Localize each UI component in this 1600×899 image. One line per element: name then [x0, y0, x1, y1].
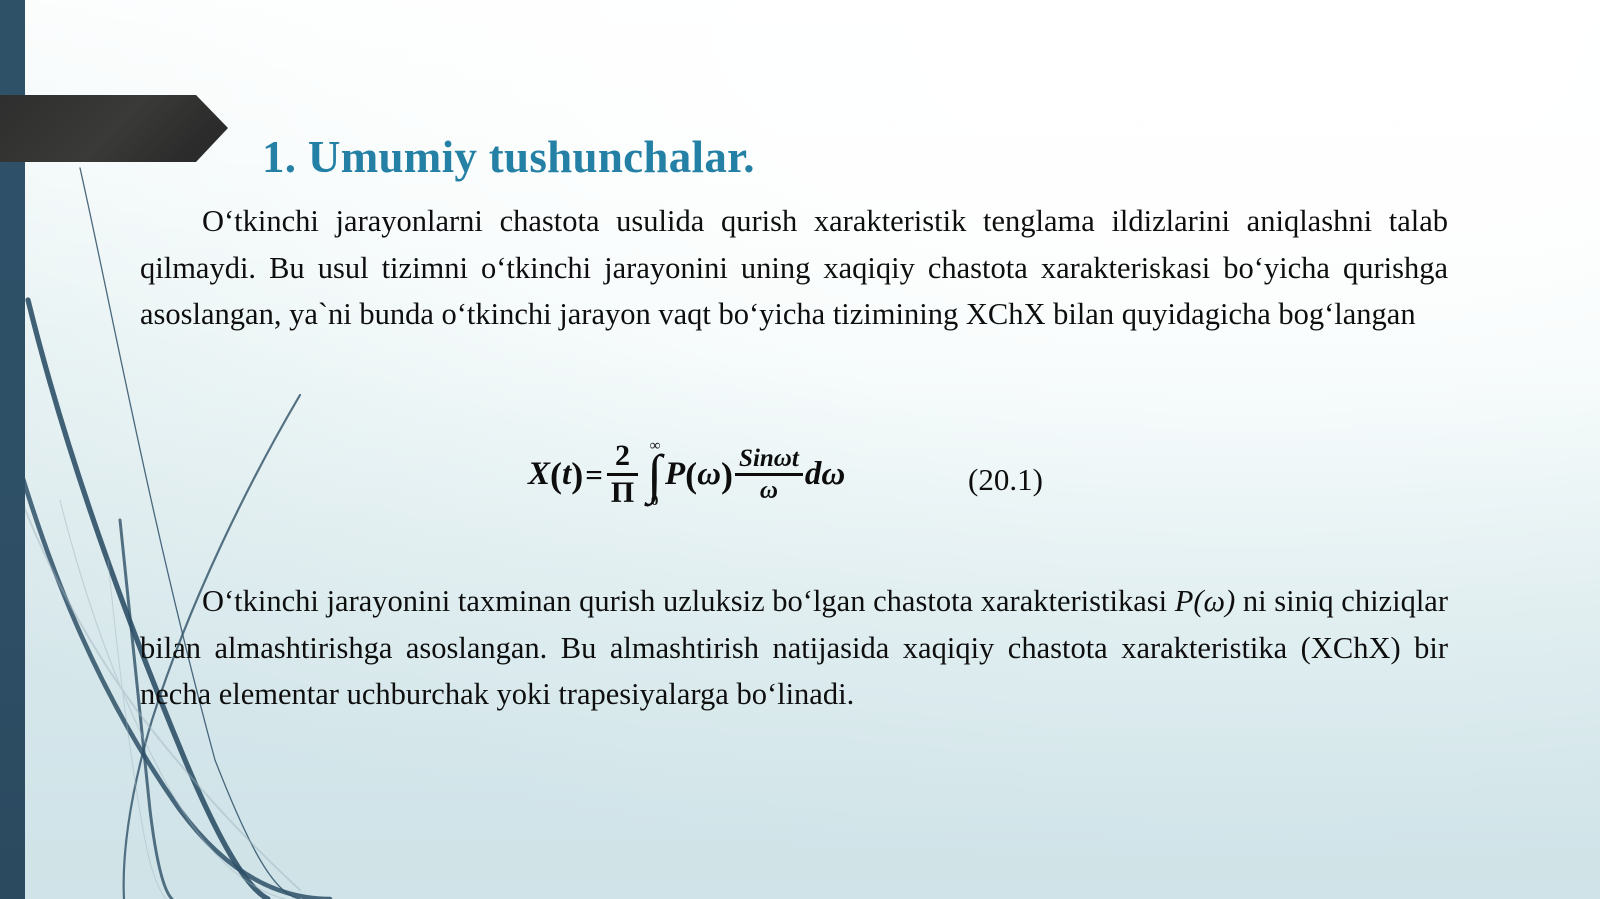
- formula-fraction-numerator: 2: [611, 440, 634, 472]
- formula-two-over-pi: 2 Π: [607, 440, 638, 509]
- integral-lower-limit: 0: [651, 496, 659, 506]
- formula-sin-numerator: Sinωt: [735, 445, 803, 472]
- paragraph-2-part-1: O‘tkinchi jarayonini taxminan qurish uzl…: [202, 584, 1175, 618]
- formula-p-function: P: [665, 456, 685, 493]
- formula-20-1: X(t) = 2 Π ∞ ∫ 0 P(ω) Sinωt ω dω: [528, 440, 845, 509]
- formula-equals-sign: =: [585, 457, 603, 493]
- presentation-slide: 1. Umumiy tushunchalar. O‘tkinchi jarayo…: [0, 0, 1600, 899]
- paragraph-block-1: O‘tkinchi jarayonlarni chastota usulida …: [140, 198, 1448, 338]
- formula-p-open-paren: (: [685, 454, 697, 496]
- formula-sin-denominator: ω: [756, 477, 782, 504]
- formula-integral: ∞ ∫ 0: [647, 443, 662, 506]
- title-arrow-banner: [0, 95, 228, 162]
- formula-lhs-close-paren: ): [571, 454, 583, 496]
- equation-row: X(t) = 2 Π ∞ ∫ 0 P(ω) Sinωt ω dω (20.1): [140, 440, 1448, 535]
- paragraph-2-italic-term: P(ω): [1175, 584, 1235, 618]
- formula-sin-fraction-bar: [735, 473, 803, 475]
- formula-lhs-open-paren: (: [550, 454, 562, 496]
- formula-fraction-denominator: Π: [607, 477, 638, 509]
- formula-lhs-argument: t: [562, 456, 571, 493]
- formula-sin-fraction: Sinωt ω: [735, 445, 803, 503]
- integral-sign-icon: ∫: [647, 452, 662, 496]
- paragraph-2-text: O‘tkinchi jarayonini taxminan qurish uzl…: [140, 578, 1448, 718]
- formula-p-close-paren: ): [721, 454, 733, 496]
- page-title: 1. Umumiy tushunchalar.: [262, 125, 755, 189]
- formula-p-argument: ω: [697, 456, 721, 493]
- paragraph-block-2: O‘tkinchi jarayonini taxminan qurish uzl…: [140, 578, 1448, 718]
- formula-differential: dω: [805, 456, 845, 493]
- paragraph-1-text: O‘tkinchi jarayonlarni chastota usulida …: [140, 198, 1448, 338]
- formula-lhs-variable: X: [528, 456, 550, 493]
- equation-number: (20.1): [968, 462, 1043, 498]
